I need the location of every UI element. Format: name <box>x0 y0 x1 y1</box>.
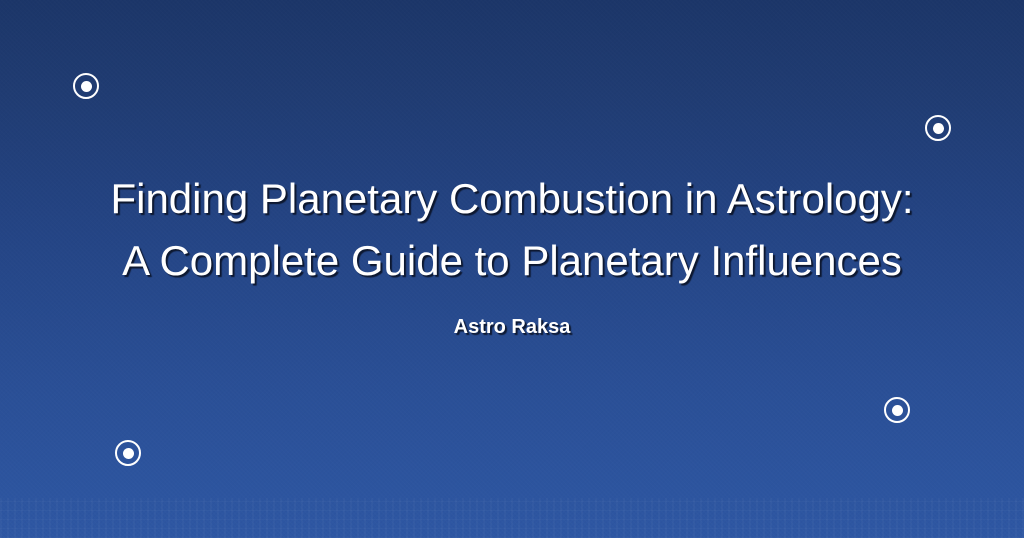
ring-marker-bottom-left-icon <box>115 440 141 466</box>
slide-title: Finding Planetary Combustion in Astrolog… <box>0 168 1024 292</box>
slide-subtitle: Astro Raksa <box>0 292 1024 339</box>
slide-title-line-1: Finding Planetary Combustion in Astrolog… <box>0 168 1024 230</box>
ring-marker-bottom-right-icon <box>884 397 910 423</box>
slide-title-line-2: A Complete Guide to Planetary Influences <box>0 230 1024 292</box>
ring-marker-top-left-icon <box>73 73 99 99</box>
ring-marker-top-right-icon <box>925 115 951 141</box>
background-texture-bottom <box>0 498 1024 538</box>
title-slide: Finding Planetary Combustion in Astrolog… <box>0 0 1024 538</box>
slide-text-block: Finding Planetary Combustion in Astrolog… <box>0 168 1024 339</box>
